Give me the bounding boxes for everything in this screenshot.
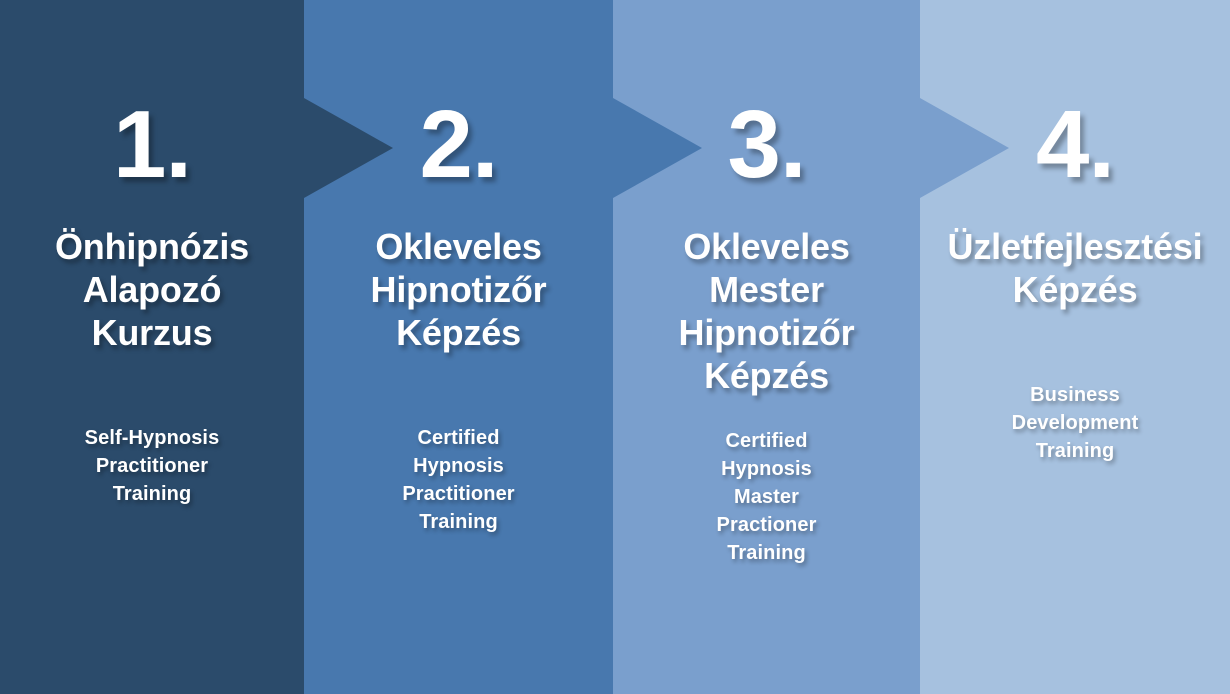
step-number-2: 2. — [419, 97, 497, 207]
training-steps-infographic: 1. Önhipnózis Alapozó Kurzus Self-Hypnos… — [0, 0, 1230, 694]
step-number-3: 3. — [727, 97, 805, 207]
step-number-1: 1. — [113, 97, 191, 207]
step-content-1: 1. Önhipnózis Alapozó Kurzus Self-Hypnos… — [0, 0, 304, 528]
step-subtitle-2: Certified Hypnosis Practitioner Training — [396, 424, 520, 536]
step-card-4[interactable]: 4. Üzletfejlesztési Képzés Business Deve… — [920, 0, 1230, 694]
step-subtitle-1: Self-Hypnosis Practitioner Training — [79, 424, 226, 508]
step-content-3: 3. Okleveles Mester Hipnotizőr Képzés Ce… — [613, 0, 920, 587]
step-card-3[interactable]: 3. Okleveles Mester Hipnotizőr Képzés Ce… — [613, 0, 920, 694]
step-title-3: Okleveles Mester Hipnotizőr Képzés — [673, 225, 861, 397]
step-content-4: 4. Üzletfejlesztési Képzés Business Deve… — [920, 0, 1230, 485]
step-title-1: Önhipnózis Alapozó Kurzus — [49, 225, 255, 354]
step-title-4: Üzletfejlesztési Képzés — [942, 225, 1209, 311]
step-card-2[interactable]: 2. Okleveles Hipnotizőr Képzés Certified… — [304, 0, 613, 694]
step-subtitle-3: Certified Hypnosis Master Practioner Tra… — [711, 427, 823, 567]
step-content-2: 2. Okleveles Hipnotizőr Képzés Certified… — [304, 0, 613, 556]
step-subtitle-4: Business Development Training — [1006, 381, 1145, 465]
step-number-4: 4. — [1036, 97, 1114, 207]
step-title-2: Okleveles Hipnotizőr Képzés — [365, 225, 553, 354]
step-card-1[interactable]: 1. Önhipnózis Alapozó Kurzus Self-Hypnos… — [0, 0, 304, 694]
